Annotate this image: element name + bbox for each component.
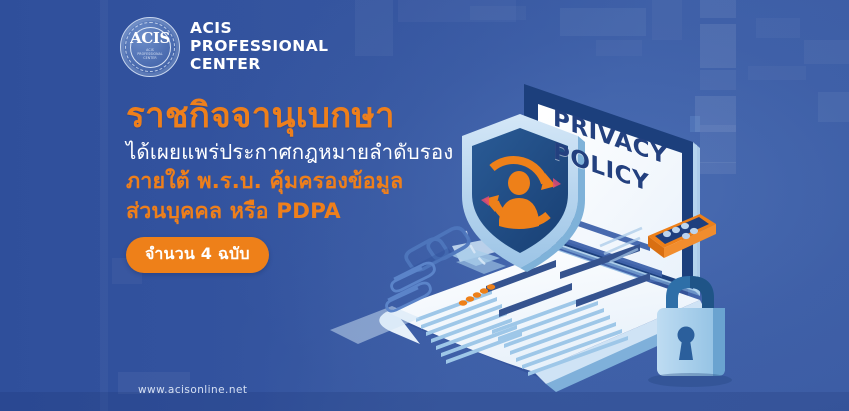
headline-block: ราชกิจจานุเบกษา ได้เผยแพร่ประกาศกฎหมายลำ… [126, 96, 456, 273]
brand-line-2: PROFESSIONAL [190, 38, 328, 56]
subheadline-line-4: ส่วนบุคคล หรือ PDPA [126, 197, 456, 226]
count-badge: จำนวน 4 ฉบับ [126, 237, 269, 273]
promotional-banner: PRIVACY POLICY ACIS ACIS PROFESSIONAL CE… [0, 0, 849, 411]
brand-line-3: CENTER [190, 56, 328, 74]
website-url[interactable]: www.acisonline.net [138, 384, 247, 396]
brand-name: ACIS PROFESSIONAL CENTER [190, 20, 328, 74]
brand-logo[interactable]: ACIS ACIS PROFESSIONAL CENTER ACIS PROFE… [120, 17, 328, 77]
headline: ราชกิจจานุเบกษา [126, 96, 456, 137]
subheadline-line-3: ภายใต้ พ.ร.บ. คุ้มครองข้อมูล [126, 167, 456, 196]
seal-monogram: ACIS [130, 31, 170, 46]
seal-subtext: ACIS PROFESSIONAL CENTER [133, 48, 167, 61]
subheadline-line-2: ได้เผยแพร่ประกาศกฎหมายลำดับรอง [126, 139, 456, 167]
acis-seal-icon: ACIS ACIS PROFESSIONAL CENTER [120, 17, 180, 77]
brand-line-1: ACIS [190, 20, 328, 38]
